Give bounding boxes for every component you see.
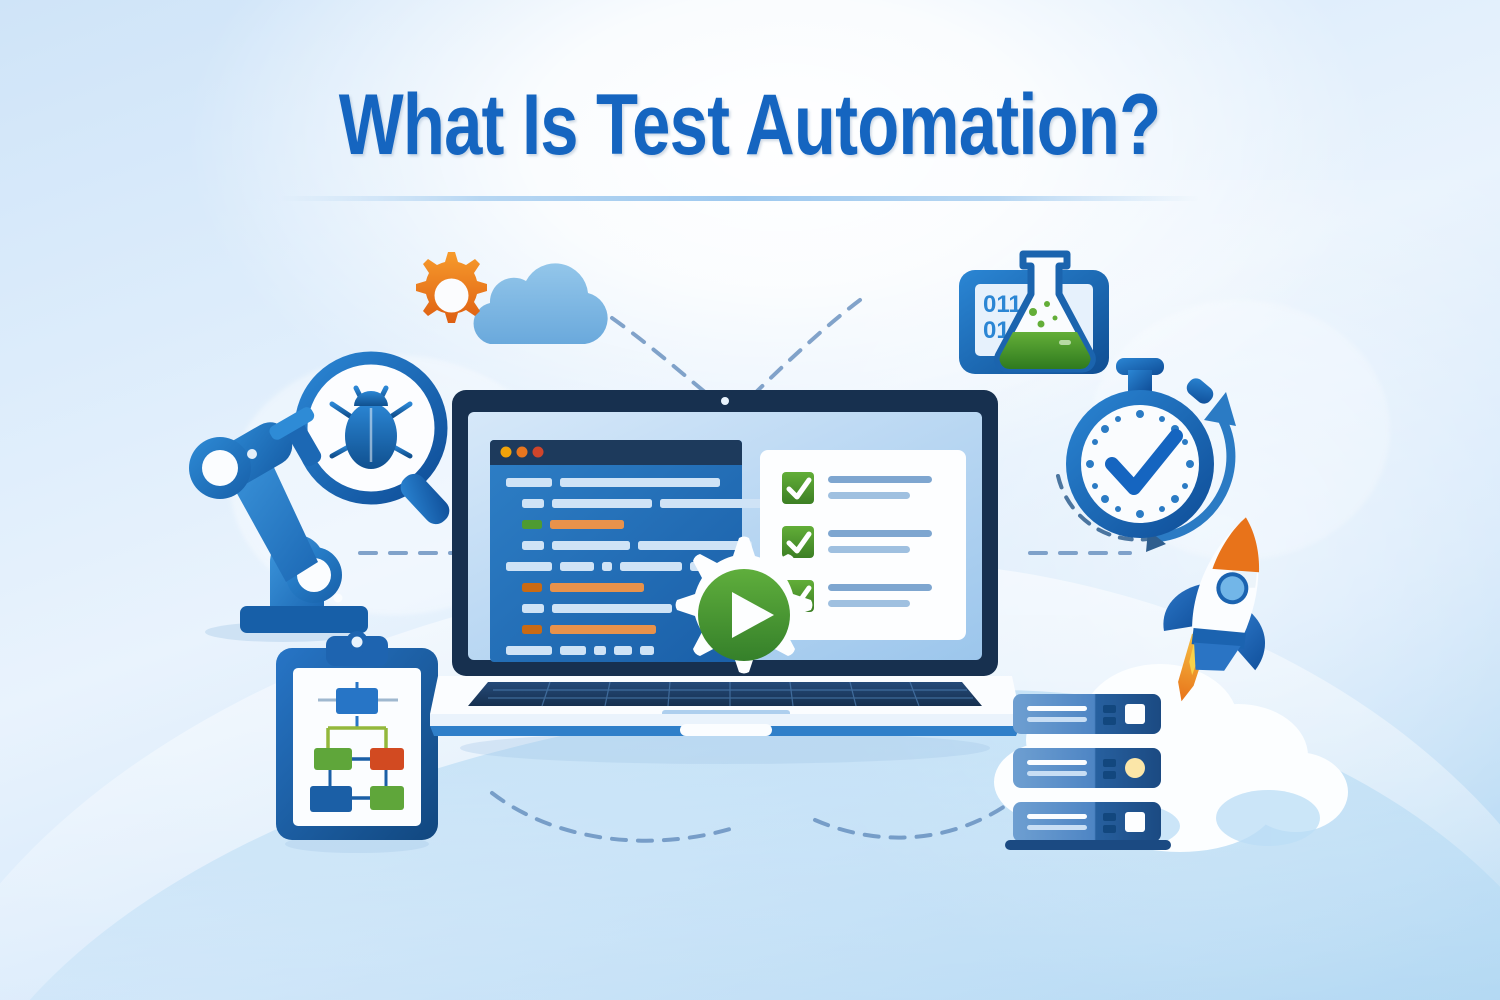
flow-node-2: [314, 748, 352, 770]
stopwatch-dial: [1081, 405, 1199, 523]
server-stack-icon: [1005, 690, 1175, 850]
connector-bottom-left: [492, 793, 740, 841]
server-unit: [1013, 748, 1161, 788]
checklist-text-line: [828, 492, 910, 499]
code-line-chip: [522, 520, 542, 529]
server-base: [1005, 840, 1171, 850]
code-line-chip: [560, 646, 586, 655]
cloud-icon: [474, 263, 608, 344]
rocket-icon: [1140, 508, 1300, 718]
code-line-chip: [552, 604, 672, 613]
code-line-chip: [594, 646, 606, 655]
code-line-chip: [522, 604, 544, 613]
server-unit: [1013, 694, 1161, 734]
connector-bottom-right: [815, 806, 1005, 838]
gear-icon: [416, 252, 487, 323]
server-status-led: [1125, 758, 1145, 778]
laptop-keyboard: [468, 682, 982, 706]
code-line-chip: [550, 625, 656, 634]
run-automation-gear: [676, 537, 813, 674]
stopwatch-side-button: [1183, 375, 1216, 407]
traffic-light-orange: [517, 447, 528, 458]
illustration-canvas: What Is Test Automation?: [0, 0, 1500, 1000]
code-line-chip: [640, 646, 654, 655]
code-line-chip: [552, 499, 652, 508]
flow-node-1: [336, 688, 378, 714]
clipboard-flowchart-icon: [268, 630, 446, 850]
flow-node-3: [370, 748, 404, 770]
code-line-chip: [506, 646, 552, 655]
checklist-text-line: [828, 546, 910, 553]
traffic-light-red: [533, 447, 544, 458]
flow-node-5: [370, 786, 404, 810]
robot-base: [240, 606, 368, 633]
laptop-illustration: [430, 388, 1020, 788]
code-line-chip: [522, 583, 542, 592]
code-line-chip: [560, 478, 720, 487]
server-unit: [1013, 802, 1161, 842]
code-line-chip: [506, 562, 552, 571]
checklist-text-line: [828, 600, 910, 607]
robot-arm-icon: [178, 410, 388, 640]
code-line-chip: [522, 625, 542, 634]
code-line-chip: [620, 562, 682, 571]
gear-cloud-group: [360, 244, 610, 364]
checklist-text-line: [828, 530, 932, 537]
checklist-text-line: [828, 476, 932, 483]
code-line-chip: [550, 583, 644, 592]
traffic-light-yellow: [501, 447, 512, 458]
code-line-chip: [614, 646, 632, 655]
code-line-chip: [522, 541, 544, 550]
code-line-chip: [550, 520, 624, 529]
code-line-chip: [506, 478, 552, 487]
flow-node-4: [310, 786, 352, 812]
checklist-text-line: [828, 584, 932, 591]
code-line-chip: [660, 499, 762, 508]
code-line-chip: [560, 562, 594, 571]
laptop-webcam: [721, 397, 729, 405]
code-line-chip: [638, 541, 752, 550]
code-line-chip: [552, 541, 630, 550]
binary-line-1: 011: [983, 291, 1022, 318]
code-line-chip: [522, 499, 544, 508]
code-line-chip: [602, 562, 612, 571]
